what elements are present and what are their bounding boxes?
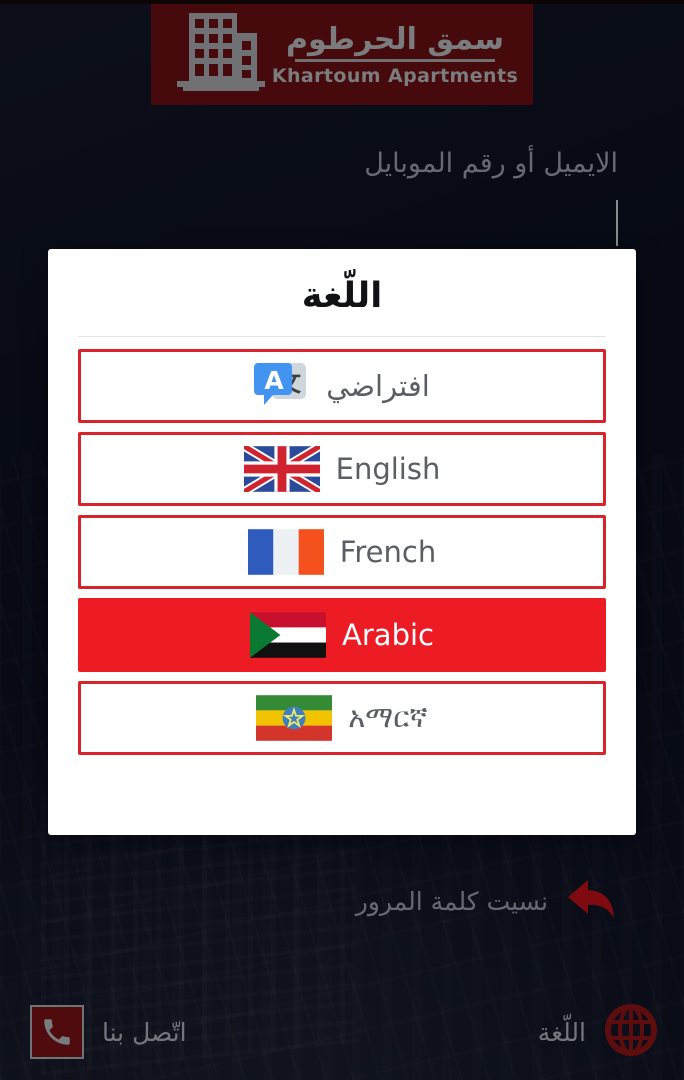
language-option-label: Arabic [342, 618, 434, 652]
language-option-arabic[interactable]: Arabic [78, 598, 606, 672]
svg-text:A: A [265, 366, 285, 395]
dialog-divider [78, 336, 606, 337]
language-option-label: English [336, 452, 441, 486]
sudan-flag-icon [250, 612, 326, 658]
language-option-french[interactable]: French [78, 515, 606, 589]
google-translate-icon: 文 A [254, 359, 310, 413]
language-option-english[interactable]: English [78, 432, 606, 506]
ethiopia-flag-icon [256, 695, 332, 741]
language-option-label: French [340, 535, 436, 569]
language-option-list: افتراضي 文 A English [48, 349, 636, 755]
language-option-default[interactable]: افتراضي 文 A [78, 349, 606, 423]
language-option-label: افتراضي [326, 369, 430, 403]
france-flag-icon [248, 529, 324, 575]
language-dialog: اللّغة افتراضي 文 A English [48, 249, 636, 835]
language-option-amharic[interactable]: አማርኛ [78, 681, 606, 755]
uk-flag-icon [244, 446, 320, 492]
language-option-label: አማርኛ [348, 700, 427, 735]
dialog-title: اللّغة [48, 277, 636, 336]
